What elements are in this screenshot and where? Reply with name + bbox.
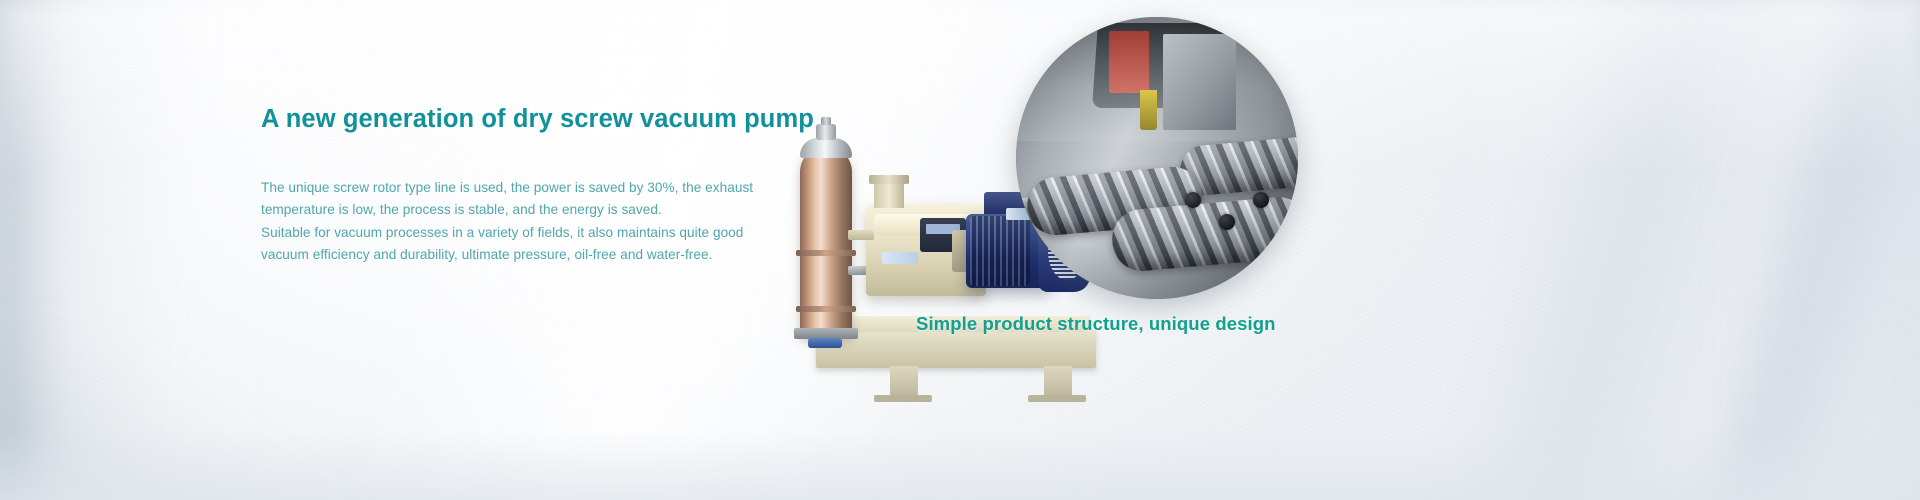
pump-inlet-flange bbox=[874, 182, 904, 208]
tank-flange-upper bbox=[796, 250, 856, 256]
description-line-3: Suitable for vacuum processes in a varie… bbox=[261, 222, 821, 245]
description-line-4: vacuum efficiency and durability, ultima… bbox=[261, 244, 821, 267]
skid-foot-right bbox=[1028, 395, 1086, 402]
separator-tank-head bbox=[800, 138, 852, 158]
pump-side-pipe bbox=[848, 230, 874, 240]
blue-drain-valve bbox=[808, 338, 842, 348]
pump-label-sticker bbox=[882, 252, 918, 264]
skid-leg-left bbox=[890, 366, 918, 396]
copy-block: A new generation of dry screw vacuum pum… bbox=[261, 104, 821, 267]
circle-photo-vignette bbox=[1016, 17, 1298, 299]
tank-flange-lower bbox=[796, 306, 856, 312]
screw-rotor-circle-photo bbox=[1016, 17, 1298, 299]
skid-foot-left bbox=[874, 395, 932, 402]
description-paragraph: The unique screw rotor type line is used… bbox=[261, 177, 821, 267]
product-hero-banner: A new generation of dry screw vacuum pum… bbox=[0, 0, 1920, 500]
description-line-2: temperature is low, the process is stabl… bbox=[261, 199, 821, 222]
description-line-1: The unique screw rotor type line is used… bbox=[261, 177, 821, 200]
tank-top-valve bbox=[816, 124, 836, 140]
feature-caption: Simple product structure, unique design bbox=[916, 313, 1276, 335]
floor-gradient bbox=[0, 430, 1920, 500]
page-title: A new generation of dry screw vacuum pum… bbox=[261, 104, 821, 135]
pump-skid-base bbox=[816, 330, 1096, 368]
skid-leg-right bbox=[1044, 366, 1072, 396]
